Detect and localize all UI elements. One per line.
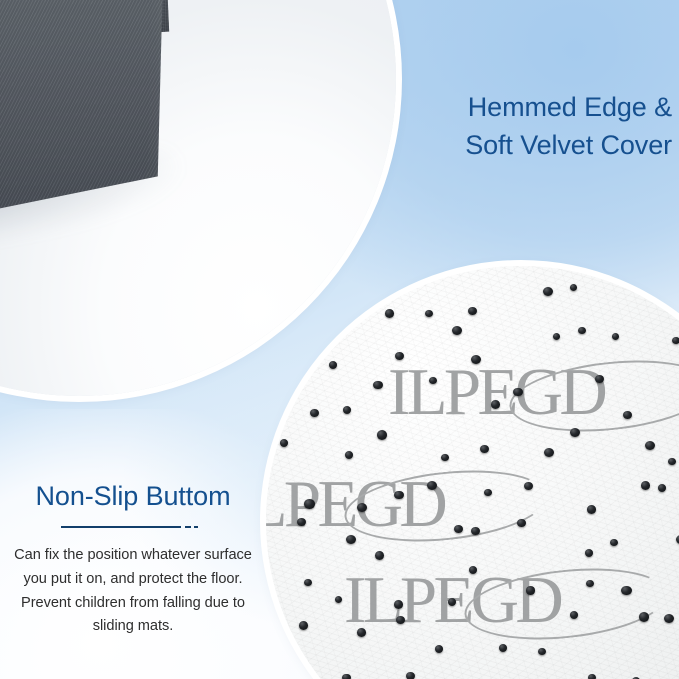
anti-slip-dot <box>612 333 619 340</box>
divider-line <box>61 526 181 528</box>
product-feature-poster: ILPEGD ILPEGD ILPEGD Hemmed Edge & Soft … <box>0 0 679 679</box>
anti-slip-dot <box>578 327 586 334</box>
anti-slip-dot <box>441 454 448 461</box>
anti-slip-dot <box>491 400 501 409</box>
anti-slip-dot <box>406 672 415 679</box>
non-slip-text-block: Non-Slip Buttom Can fix the position wha… <box>4 480 262 639</box>
body-line-1: Can fix the position whatever surface <box>4 544 262 568</box>
body-line-4: sliding mats. <box>4 615 262 639</box>
anti-slip-dot <box>570 428 580 437</box>
non-slip-headline: Non-Slip Buttom <box>4 480 262 512</box>
anti-slip-dot <box>517 519 525 527</box>
divider-dash-long <box>185 526 191 528</box>
non-slip-body-text: Can fix the position whatever surface yo… <box>4 544 262 639</box>
divider-dash-short <box>194 526 198 528</box>
anti-slip-dot <box>468 307 477 315</box>
anti-slip-dot <box>427 481 437 490</box>
anti-slip-dot <box>645 441 655 450</box>
anti-slip-dot <box>526 586 535 594</box>
anti-slip-dot <box>304 499 314 509</box>
headline-line-1: Hemmed Edge & <box>352 88 672 126</box>
anti-slip-dot <box>394 491 403 500</box>
anti-slip-dot <box>610 539 618 546</box>
anti-slip-dot <box>570 284 577 291</box>
anti-slip-dot <box>335 596 342 603</box>
headline-divider <box>4 516 262 538</box>
anti-slip-dot <box>342 674 350 679</box>
anti-slip-dot <box>357 628 366 637</box>
non-slip-mat-photo: ILPEGD ILPEGD ILPEGD <box>266 266 679 679</box>
anti-slip-dot <box>595 375 604 383</box>
anti-slip-dot <box>377 430 387 440</box>
anti-slip-dot <box>480 445 489 453</box>
anti-slip-dot <box>585 549 593 557</box>
anti-slip-dot <box>435 645 443 653</box>
anti-slip-dot <box>513 388 523 397</box>
anti-slip-dot <box>373 381 382 390</box>
headline-line-2: Soft Velvet Cover <box>352 126 672 164</box>
anti-slip-dot <box>471 355 481 365</box>
body-line-3: Prevent children from falling due to <box>4 592 262 616</box>
anti-slip-dot <box>394 600 403 609</box>
anti-slip-dot <box>639 612 649 621</box>
anti-slip-dot <box>672 337 679 344</box>
anti-slip-dot <box>345 451 354 459</box>
anti-slip-dot <box>538 648 546 655</box>
anti-slip-dot <box>329 361 337 369</box>
anti-slip-dot <box>280 439 289 447</box>
anti-slip-dot <box>448 598 456 605</box>
anti-slip-dot <box>668 458 675 465</box>
anti-slip-dot <box>499 644 507 651</box>
anti-slip-dot <box>621 586 631 595</box>
anti-slip-dot <box>452 326 462 335</box>
anti-slip-dot <box>588 674 596 679</box>
hemmed-edge-headline: Hemmed Edge & Soft Velvet Cover <box>352 88 672 165</box>
anti-slip-dot <box>484 489 491 496</box>
body-line-2: you put it on, and protect the floor. <box>4 568 262 592</box>
